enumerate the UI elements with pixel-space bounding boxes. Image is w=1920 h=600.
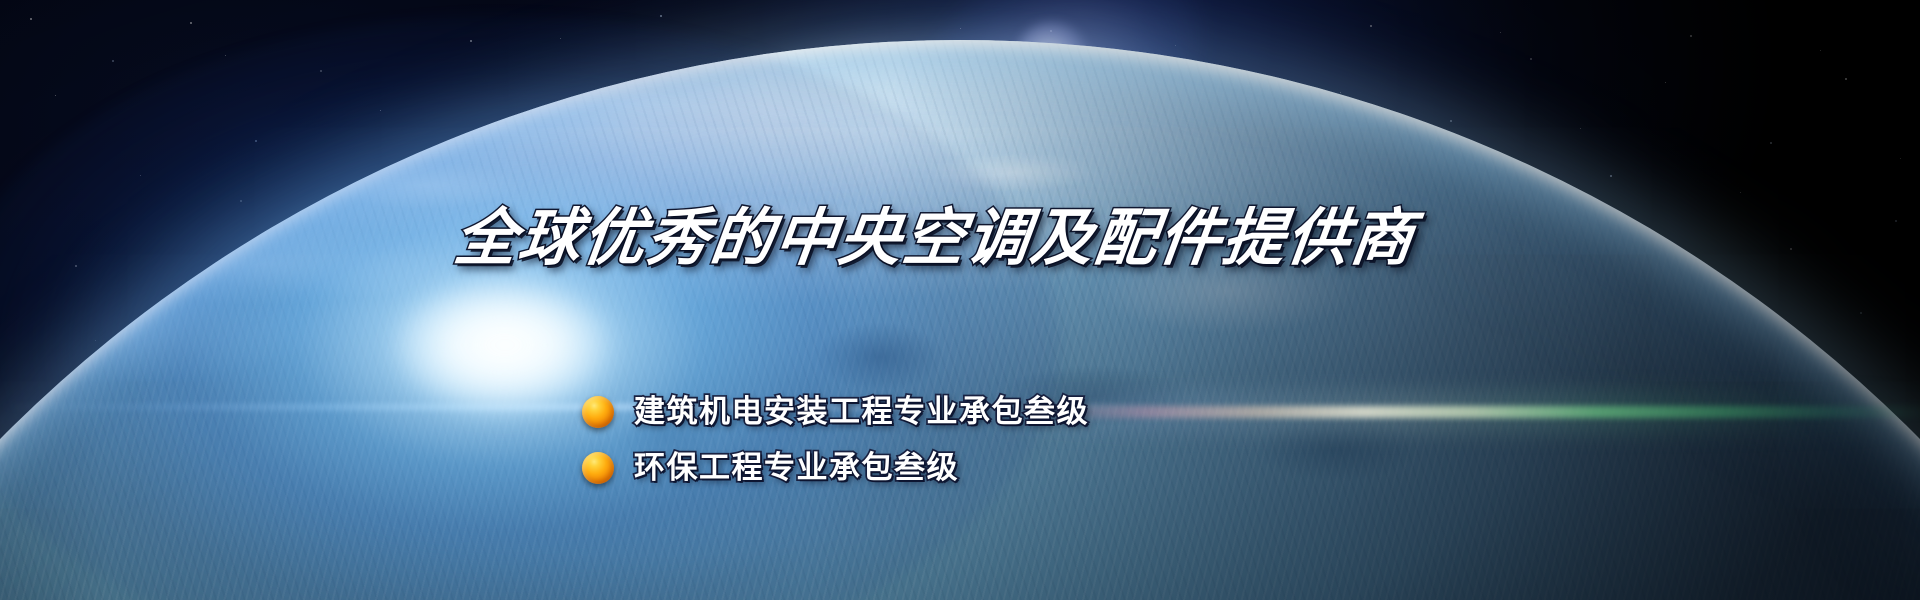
bullet-item-label: 环保工程专业承包叁级	[634, 450, 959, 486]
hero-banner: 全球优秀的中央空调及配件提供商 建筑机电安装工程专业承包叁级 环保工程专业承包叁…	[0, 0, 1920, 600]
bullet-item: 环保工程专业承包叁级	[582, 440, 1089, 496]
orange-dot-icon	[582, 396, 614, 428]
banner-headline: 全球优秀的中央空调及配件提供商	[451, 203, 1420, 273]
banner-bullet-list: 建筑机电安装工程专业承包叁级 环保工程专业承包叁级	[582, 384, 1089, 496]
bullet-item-label: 建筑机电安装工程专业承包叁级	[634, 394, 1089, 430]
banner-content: 全球优秀的中央空调及配件提供商 建筑机电安装工程专业承包叁级 环保工程专业承包叁…	[0, 0, 1920, 600]
orange-dot-icon	[582, 452, 614, 484]
bullet-item: 建筑机电安装工程专业承包叁级	[582, 384, 1089, 440]
